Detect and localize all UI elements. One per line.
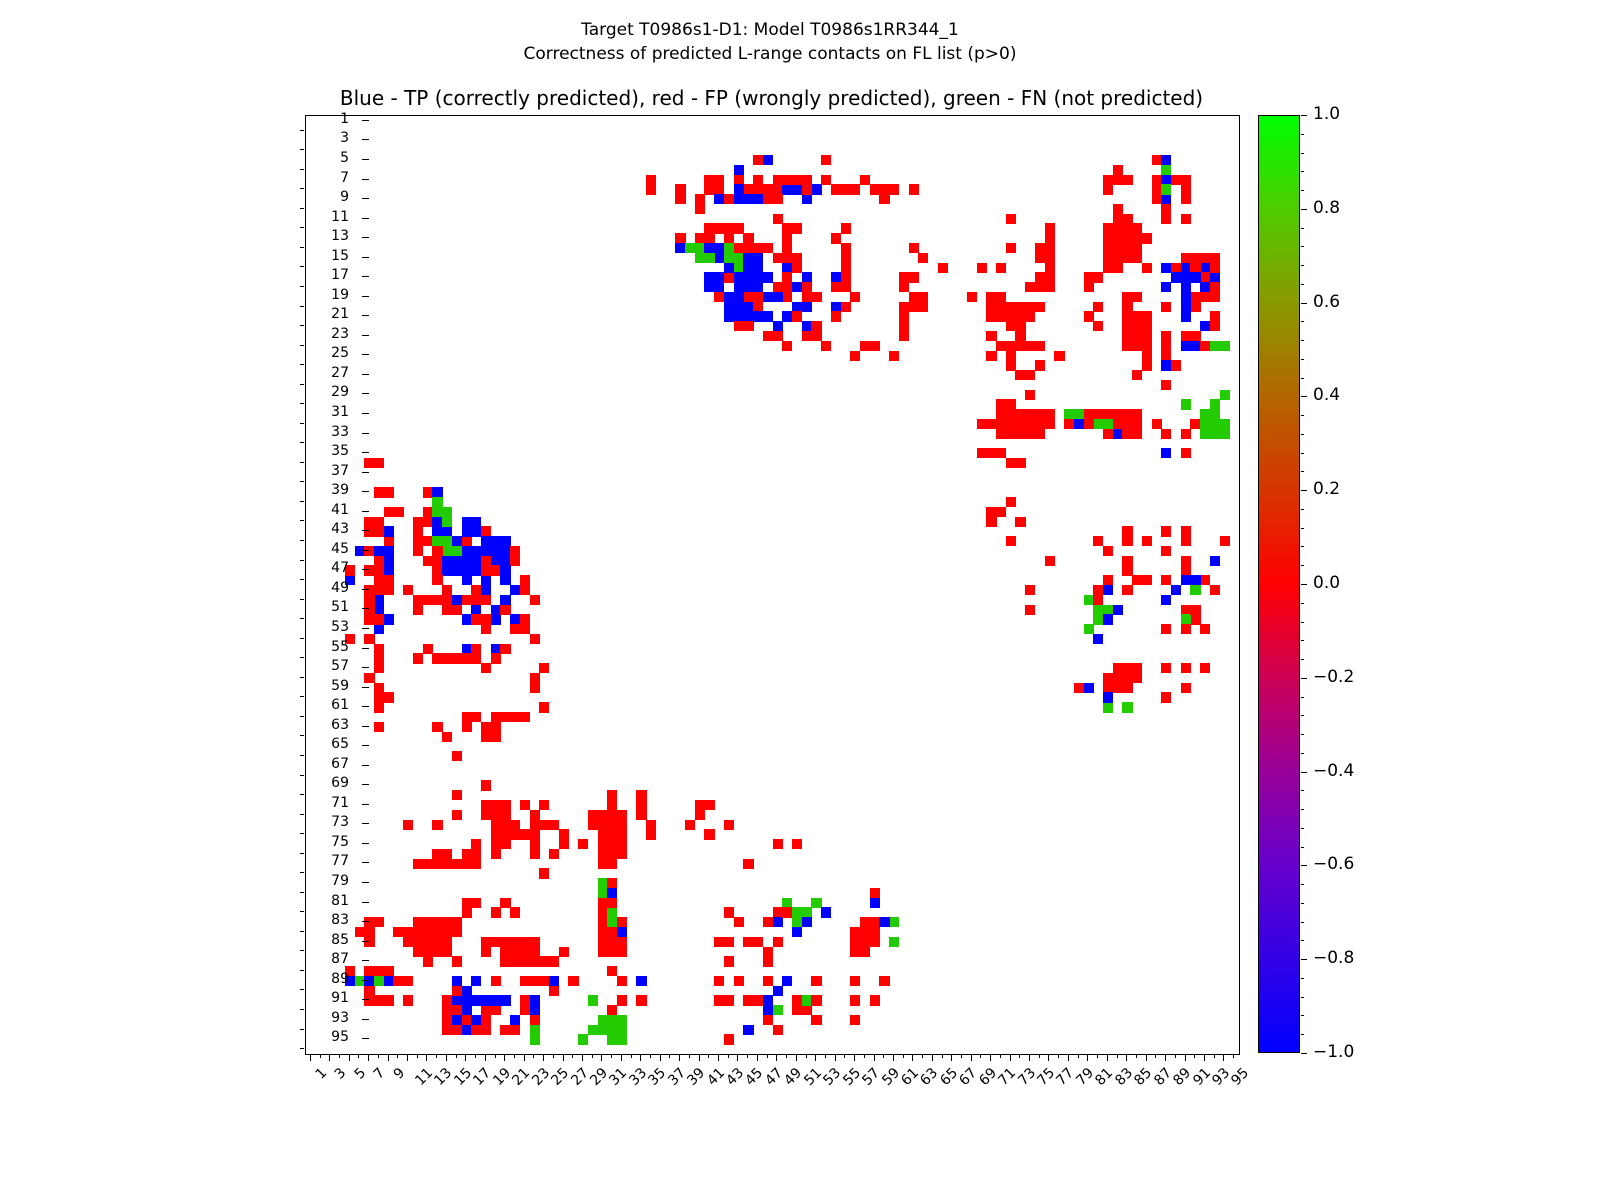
colorbar-minor-tick [1301, 828, 1304, 829]
contact-cell [695, 204, 705, 214]
contact-cell [986, 419, 996, 429]
contact-cell [996, 409, 1006, 419]
contact-cell [841, 282, 851, 292]
contact-cell [792, 1005, 802, 1015]
x-tick-mark [1068, 1054, 1069, 1061]
contact-cell [636, 800, 646, 810]
contact-cell [1142, 575, 1152, 585]
x-tick-mark [582, 1054, 583, 1061]
contact-cell [977, 448, 987, 458]
colorbar-minor-tick [1301, 734, 1304, 735]
contact-cell [1200, 663, 1210, 673]
contact-cell [1161, 341, 1171, 351]
contact-cell [889, 937, 899, 947]
contact-cell [821, 341, 831, 351]
y-tick-label: 51 [331, 599, 349, 615]
contact-cell [1015, 370, 1025, 380]
contact-cell [1045, 282, 1055, 292]
contact-cell [481, 800, 491, 810]
contact-cell [462, 859, 472, 869]
contact-cell [1035, 419, 1045, 429]
contact-cell [500, 565, 510, 575]
contact-cell [1122, 702, 1132, 712]
contact-cell [782, 243, 792, 253]
contact-cell [481, 732, 491, 742]
y-tick-label: 87 [331, 951, 349, 967]
contact-cell [734, 165, 744, 175]
contact-cell [1084, 272, 1094, 282]
contact-cell [753, 995, 763, 1005]
contact-cell [364, 966, 374, 976]
contact-cell [607, 1015, 617, 1025]
colorbar-tick-label: −0.8 [1313, 948, 1354, 968]
contact-cell [500, 937, 510, 947]
contact-cell [423, 536, 433, 546]
contact-cell [743, 995, 753, 1005]
contact-cell [879, 184, 889, 194]
x-minor-tick [883, 1054, 884, 1058]
contact-cell [1132, 311, 1142, 321]
contact-cell [1220, 536, 1230, 546]
contact-cell [491, 800, 501, 810]
contact-cell [442, 859, 452, 869]
contact-cell [1190, 575, 1200, 585]
contact-cell [607, 859, 617, 869]
y-minor-tick [300, 423, 304, 424]
contact-cell [607, 1034, 617, 1044]
contact-cell [549, 986, 559, 996]
x-tick-label: 1 [312, 1065, 330, 1083]
contact-cell [1103, 419, 1113, 429]
y-minor-tick [300, 794, 304, 795]
contact-cell [879, 976, 889, 986]
contact-cell [1084, 683, 1094, 693]
contact-cell [1181, 311, 1191, 321]
contact-cell [870, 888, 880, 898]
contact-cell [432, 517, 442, 527]
y-minor-tick [300, 892, 304, 893]
contact-cell [374, 605, 384, 615]
contact-cell [442, 556, 452, 566]
x-tick-mark [854, 1054, 855, 1061]
x-minor-tick [844, 1054, 845, 1058]
contact-cell [598, 810, 608, 820]
contact-cell [1025, 282, 1035, 292]
contact-map-figure: Target T0986s1-D1: Model T0986s1RR344_1 … [0, 0, 1600, 1200]
contact-cell [1015, 409, 1025, 419]
colorbar-minor-tick [1301, 940, 1304, 941]
contact-cell [355, 546, 365, 556]
contact-cell [1074, 419, 1084, 429]
contact-cell [909, 184, 919, 194]
contact-cell [792, 184, 802, 194]
contact-cell [675, 184, 685, 194]
contact-cell [491, 614, 501, 624]
contact-cell [743, 184, 753, 194]
x-tick-label: 5 [351, 1065, 369, 1083]
contact-cell [1181, 272, 1191, 282]
contact-cell [1210, 272, 1220, 282]
contact-cell [724, 263, 734, 273]
contact-cell [471, 898, 481, 908]
contact-cell [870, 898, 880, 908]
contact-cell [1045, 223, 1055, 233]
contact-cell [1132, 575, 1142, 585]
contact-cell [675, 243, 685, 253]
contact-cell [442, 917, 452, 927]
contact-cell [1122, 673, 1132, 683]
contact-cell [1035, 282, 1045, 292]
x-minor-tick [320, 1054, 321, 1058]
contact-cell [753, 175, 763, 185]
contact-cell [870, 927, 880, 937]
contact-cell [763, 995, 773, 1005]
contact-cell [471, 859, 481, 869]
x-minor-tick [475, 1054, 476, 1058]
contact-cell [403, 937, 413, 947]
contact-cell [1025, 419, 1035, 429]
contact-cell [617, 1015, 627, 1025]
contact-cell [452, 1005, 462, 1015]
contact-cell [773, 917, 783, 927]
contact-cell [364, 526, 374, 536]
contact-cell [714, 282, 724, 292]
contact-cell [1103, 546, 1113, 556]
contact-cell [598, 839, 608, 849]
contact-cell [773, 321, 783, 331]
y-tick-mark [362, 276, 369, 277]
contact-cell [899, 272, 909, 282]
x-tick-mark [835, 1054, 836, 1061]
contact-cell [734, 272, 744, 282]
x-tick-label: 9 [390, 1065, 408, 1083]
contact-cell [364, 546, 374, 556]
contact-cell [1093, 321, 1103, 331]
contact-cell [938, 263, 948, 273]
colorbar-minor-tick [1301, 528, 1304, 529]
x-minor-tick [553, 1054, 554, 1058]
colorbar-minor-tick [1301, 509, 1304, 510]
colorbar-minor-tick [1301, 809, 1304, 810]
contact-cell [1074, 683, 1084, 693]
contact-cell [374, 565, 384, 575]
contact-cell [1161, 624, 1171, 634]
contact-cell [1220, 419, 1230, 429]
contact-cell [530, 595, 540, 605]
contact-cell [1103, 243, 1113, 253]
contact-cell [1171, 272, 1181, 282]
contact-cell [792, 311, 802, 321]
contact-cell [1200, 282, 1210, 292]
x-tick-mark [796, 1054, 797, 1061]
contact-cell [462, 653, 472, 663]
contact-cell [1190, 253, 1200, 263]
contact-cell [413, 927, 423, 937]
contact-cell [996, 419, 1006, 429]
contact-cell [1190, 614, 1200, 624]
y-minor-tick [300, 188, 304, 189]
contact-cell [704, 243, 714, 253]
colorbar-tick-mark [1301, 865, 1307, 866]
contact-cell [860, 947, 870, 957]
contact-cell [617, 937, 627, 947]
contact-cell [374, 487, 384, 497]
contact-cell [607, 947, 617, 957]
contact-cell [743, 302, 753, 312]
y-tick-mark [362, 589, 369, 590]
contact-cell [384, 565, 394, 575]
contact-cell [539, 976, 549, 986]
contact-cell [1093, 595, 1103, 605]
contact-cell [491, 546, 501, 556]
contact-cell [588, 820, 598, 830]
contact-cell [1103, 233, 1113, 243]
contact-cell [714, 243, 724, 253]
contact-cell [763, 184, 773, 194]
contact-cell [1045, 419, 1055, 429]
contact-cell [491, 839, 501, 849]
contact-cell [773, 1025, 783, 1035]
contact-cell [462, 1015, 472, 1025]
contact-cell [1045, 263, 1055, 273]
contact-cell [743, 194, 753, 204]
contact-cell [743, 282, 753, 292]
contact-cell [743, 311, 753, 321]
contact-cell [811, 292, 821, 302]
contact-cell [442, 1025, 452, 1035]
contact-cell [782, 898, 792, 908]
contact-cell [685, 243, 695, 253]
contact-cell [510, 829, 520, 839]
contact-cell [510, 712, 520, 722]
contact-cell [909, 272, 919, 282]
contact-cell [763, 311, 773, 321]
contact-cell [899, 321, 909, 331]
colorbar-minor-tick [1301, 228, 1304, 229]
colorbar-tick-label: 0.4 [1313, 385, 1340, 405]
contact-cell [413, 653, 423, 663]
contact-cell [442, 536, 452, 546]
contact-cell [1064, 419, 1074, 429]
contact-cell [1113, 233, 1123, 243]
contact-cell [471, 653, 481, 663]
contact-cell [841, 253, 851, 263]
contact-cell [1181, 399, 1191, 409]
contact-cell [1161, 214, 1171, 224]
contact-cell [423, 947, 433, 957]
contact-cell [724, 243, 734, 253]
y-tick-mark [362, 687, 369, 688]
contact-cell [996, 448, 1006, 458]
contact-cell [782, 907, 792, 917]
y-tick-label: 65 [331, 736, 349, 752]
x-minor-tick [572, 1054, 573, 1058]
x-tick-mark [990, 1054, 991, 1061]
contact-cell [1035, 341, 1045, 351]
y-tick-label: 85 [331, 932, 349, 948]
contact-cell [743, 243, 753, 253]
contact-cell [714, 194, 724, 204]
x-tick-mark [660, 1054, 661, 1061]
contact-cell [481, 1015, 491, 1025]
contact-cell [1142, 536, 1152, 546]
x-minor-tick [864, 1054, 865, 1058]
x-minor-tick [767, 1054, 768, 1058]
y-minor-tick [300, 814, 304, 815]
contact-cell [986, 448, 996, 458]
contact-cell [753, 302, 763, 312]
contact-cell [491, 976, 501, 986]
contact-cell [860, 927, 870, 937]
contact-cell [1025, 311, 1035, 321]
contact-cell [1142, 341, 1152, 351]
contact-cell [471, 712, 481, 722]
contact-cell [1006, 429, 1016, 439]
x-minor-tick [631, 1054, 632, 1058]
contact-cell [996, 311, 1006, 321]
contact-cell [520, 712, 530, 722]
contact-cell [1190, 292, 1200, 302]
x-tick-mark [932, 1054, 933, 1061]
contact-cell [442, 507, 452, 517]
contact-cell [1181, 663, 1191, 673]
contact-cell [841, 263, 851, 273]
contact-cell [423, 937, 433, 947]
contact-cell [530, 956, 540, 966]
contact-cell [491, 712, 501, 722]
y-tick-mark [362, 120, 369, 121]
contact-cell [442, 849, 452, 859]
contact-cell [462, 722, 472, 732]
y-minor-tick [300, 833, 304, 834]
contact-cell [530, 995, 540, 1005]
contact-cell [831, 311, 841, 321]
contact-cell [734, 253, 744, 263]
contact-cell [452, 565, 462, 575]
contact-cell [617, 976, 627, 986]
contact-cell [520, 624, 530, 634]
contact-cell [743, 292, 753, 302]
y-tick-label: 11 [331, 209, 349, 225]
x-minor-tick [786, 1054, 787, 1058]
contact-cell [695, 800, 705, 810]
contact-cell [471, 976, 481, 986]
contact-cell [1122, 311, 1132, 321]
contact-cell [918, 292, 928, 302]
x-tick-mark [815, 1054, 816, 1061]
contact-cell [1006, 360, 1016, 370]
contact-cell [539, 956, 549, 966]
contact-cell [1113, 223, 1123, 233]
contact-cell [1132, 243, 1142, 253]
colorbar-minor-tick [1301, 321, 1304, 322]
contact-cell [384, 575, 394, 585]
contact-cell [442, 947, 452, 957]
x-tick-mark [757, 1054, 758, 1061]
contact-cell [1161, 194, 1171, 204]
contact-cell [724, 194, 734, 204]
y-tick-mark [362, 511, 369, 512]
contact-cell [1006, 311, 1016, 321]
contact-cell [1122, 233, 1132, 243]
x-minor-tick [961, 1054, 962, 1058]
contact-cell [1181, 184, 1191, 194]
y-minor-tick [300, 130, 304, 131]
contact-cell [1103, 614, 1113, 624]
y-tick-mark [362, 433, 369, 434]
contact-cell [462, 614, 472, 624]
x-tick-mark [407, 1054, 408, 1061]
contact-cell [432, 507, 442, 517]
y-tick-mark [362, 393, 369, 394]
contact-cell [530, 810, 540, 820]
y-tick-label: 55 [331, 639, 349, 655]
contact-cell [452, 605, 462, 615]
contact-cell [374, 683, 384, 693]
y-tick-mark [362, 452, 369, 453]
contact-cell [1220, 390, 1230, 400]
contact-cell [743, 233, 753, 243]
contact-cell [500, 644, 510, 654]
contact-cell [1210, 419, 1220, 429]
contact-cell [607, 800, 617, 810]
contact-cell [753, 263, 763, 273]
x-tick-mark [388, 1054, 389, 1061]
contact-cell [1103, 263, 1113, 273]
y-minor-tick [300, 657, 304, 658]
contact-cell [1122, 214, 1132, 224]
x-minor-tick [650, 1054, 651, 1058]
contact-cell [1210, 282, 1220, 292]
contact-cell [471, 605, 481, 615]
colorbar-tick-mark [1301, 209, 1307, 210]
contact-cell [1113, 419, 1123, 429]
contact-cell [1200, 272, 1210, 282]
contact-cell [1181, 302, 1191, 312]
contact-cell [695, 233, 705, 243]
contact-cell [870, 341, 880, 351]
contact-cell [491, 820, 501, 830]
y-tick-mark [362, 569, 369, 570]
contact-cell [1103, 683, 1113, 693]
contact-cell [714, 223, 724, 233]
contact-cell [1181, 575, 1191, 585]
contact-cell [384, 536, 394, 546]
contact-cell [568, 976, 578, 986]
contact-cell [1122, 175, 1132, 185]
contact-cell [773, 214, 783, 224]
colorbar-minor-tick [1301, 171, 1304, 172]
contact-cell [1161, 351, 1171, 361]
x-minor-tick [397, 1054, 398, 1058]
contact-cell [704, 233, 714, 243]
contact-cell [374, 575, 384, 585]
contact-cell [364, 634, 374, 644]
contact-cell [1161, 692, 1171, 702]
x-tick-mark [1126, 1054, 1127, 1061]
contact-cell [734, 292, 744, 302]
contact-cell [714, 253, 724, 263]
contact-cell [831, 302, 841, 312]
contact-cell [384, 556, 394, 566]
contact-cell [724, 1034, 734, 1044]
contact-cell [530, 820, 540, 830]
y-minor-tick [300, 149, 304, 150]
colorbar-tick-mark [1301, 678, 1307, 679]
contact-cell [802, 321, 812, 331]
contact-cell [1015, 429, 1025, 439]
colorbar-minor-tick [1301, 134, 1304, 135]
